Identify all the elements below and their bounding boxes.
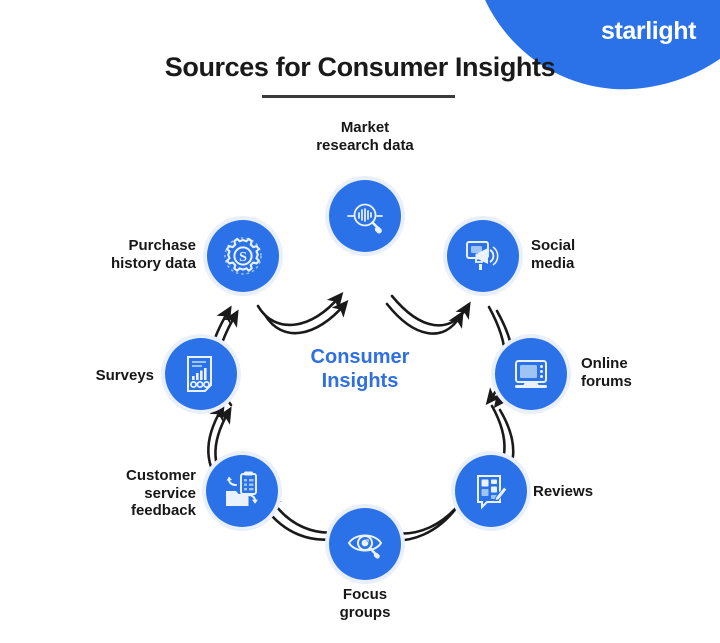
gear-dollar-icon: S xyxy=(222,235,264,277)
node-icon-reviews[interactable] xyxy=(455,455,527,527)
magnifier-waveform-icon xyxy=(345,196,385,236)
node-icon-customer-service-feedback[interactable] xyxy=(206,455,278,527)
node-label-social-media: Social media xyxy=(531,237,661,272)
node-icon-social-media[interactable] xyxy=(447,220,519,292)
node-label-focus-groups: Focus groups xyxy=(285,586,445,621)
title-divider xyxy=(262,95,455,98)
notepad-pencil-icon xyxy=(471,471,511,511)
node-label-customer-service-feedback: Customer service feedback xyxy=(58,467,196,520)
node-icon-focus-groups[interactable] xyxy=(329,508,401,580)
eye-magnifier-icon xyxy=(345,524,385,564)
node-label-reviews: Reviews xyxy=(533,483,663,501)
clipboard-folder-exchange-icon xyxy=(222,471,262,511)
node-icon-market-research-data[interactable] xyxy=(329,180,401,252)
center-label: Consumer Insights xyxy=(0,345,720,394)
arrow-focus-to-customer xyxy=(262,503,340,540)
infographic-canvas: starlight Sources for Consumer Insights xyxy=(0,0,720,643)
screen-megaphone-icon xyxy=(463,236,503,276)
svg-text:S: S xyxy=(239,250,247,265)
node-icon-purchase-history-data[interactable]: S xyxy=(207,220,279,292)
page-title: Sources for Consumer Insights xyxy=(0,52,720,83)
arrow-market-to-social-2 xyxy=(387,304,461,334)
arrow-purchase-to-market-2 xyxy=(265,304,345,333)
brand-wordmark: starlight xyxy=(601,17,696,46)
node-label-market-research-data: Market research data xyxy=(285,119,445,154)
node-label-purchase-history-data: Purchase history data xyxy=(58,237,196,272)
